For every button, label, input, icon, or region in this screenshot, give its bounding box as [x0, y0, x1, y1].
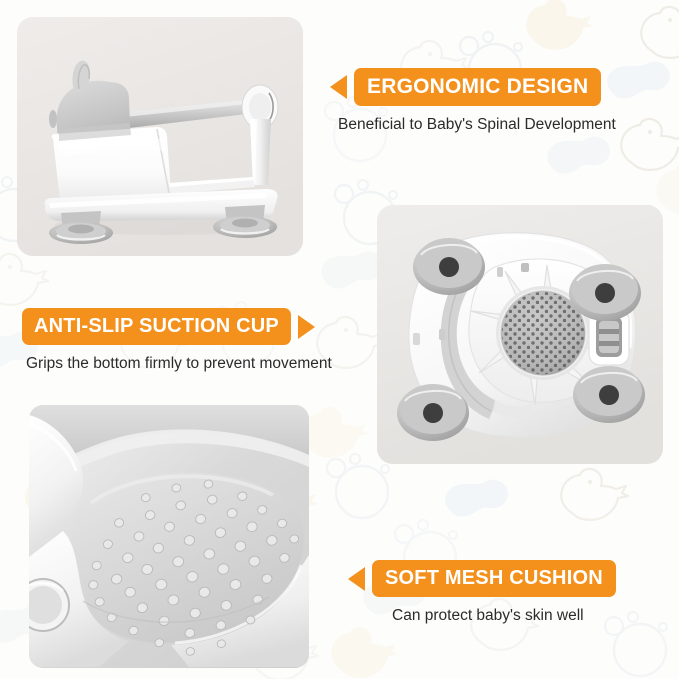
infographic-root: ERGONOMIC DESIGN Beneficial to Baby's Sp… [0, 0, 679, 679]
feature-subtitle-ergonomic: Beneficial to Baby's Spinal Development [330, 116, 670, 135]
feature-badge-mesh[interactable]: SOFT MESH CUSHION [372, 560, 616, 597]
arrow-left-icon [330, 75, 347, 99]
product-photo-mesh-view [29, 405, 309, 668]
feature-callout-ergonomic: ERGONOMIC DESIGN Beneficial to Baby's Sp… [330, 68, 670, 135]
feature-badge-suction[interactable]: ANTI-SLIP SUCTION CUP [22, 308, 291, 345]
feature-subtitle-suction: Grips the bottom firmly to prevent movem… [22, 355, 362, 374]
product-photo-side-view [17, 17, 303, 256]
arrow-left-icon [348, 567, 365, 591]
feature-callout-suction: ANTI-SLIP SUCTION CUP Grips the bottom f… [22, 308, 362, 374]
bottom-view-illustration [377, 205, 663, 464]
badge-row-ergonomic: ERGONOMIC DESIGN [330, 68, 670, 106]
badge-row-suction: ANTI-SLIP SUCTION CUP [22, 308, 362, 345]
badge-row-mesh: SOFT MESH CUSHION [348, 560, 668, 597]
feature-badge-ergonomic[interactable]: ERGONOMIC DESIGN [354, 68, 601, 106]
feature-callout-mesh: SOFT MESH CUSHION Can protect baby's ski… [348, 560, 668, 626]
side-view-illustration [17, 17, 303, 256]
mesh-cushion-illustration [29, 405, 309, 668]
product-photo-bottom-view [377, 205, 663, 464]
feature-subtitle-mesh: Can protect baby's skin well [348, 607, 668, 626]
arrow-right-icon [298, 315, 315, 339]
